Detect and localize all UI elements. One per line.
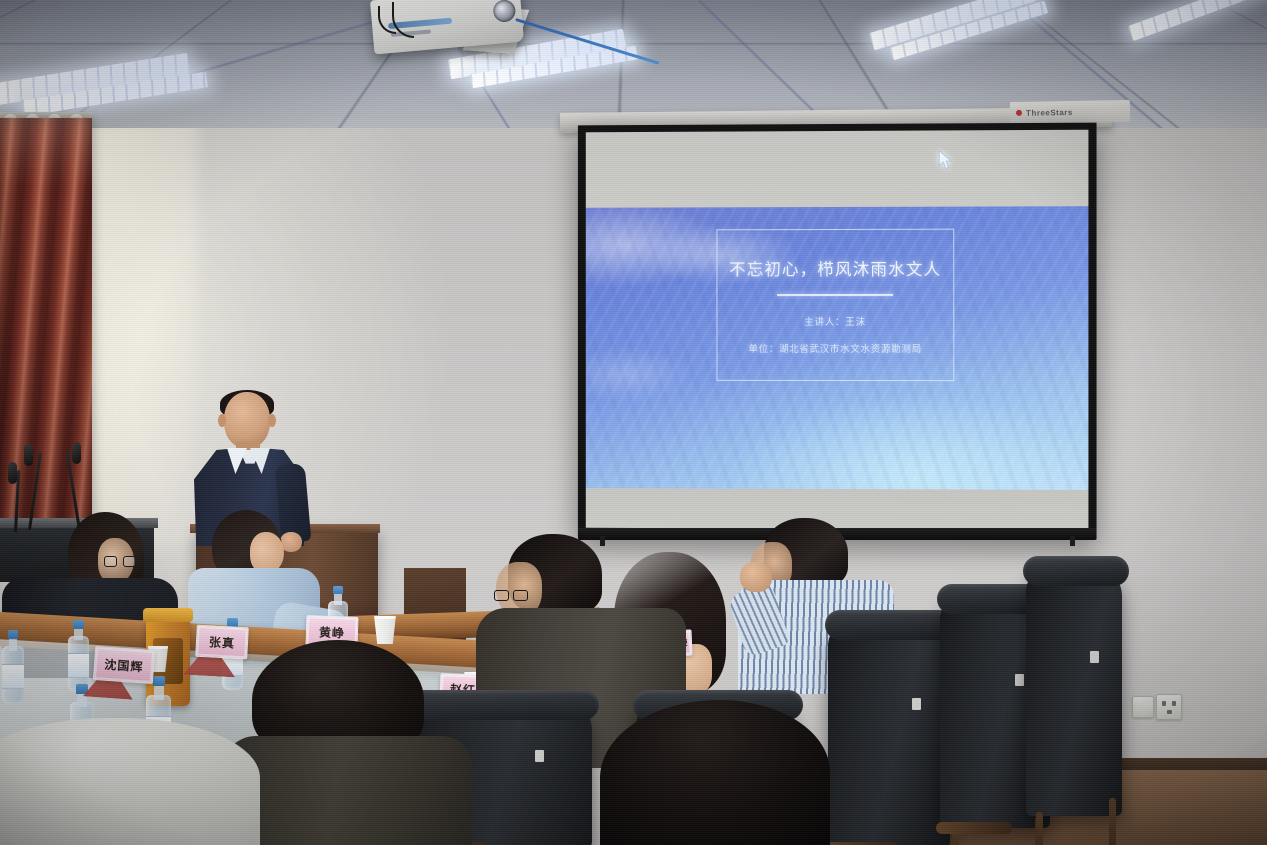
chair-leg [1036, 812, 1043, 845]
bottle-cap [227, 618, 237, 627]
screen-blank-area-top [586, 130, 1089, 208]
presenter-head [224, 392, 270, 448]
bottle-cap [153, 676, 165, 686]
eyeglasses-icon [494, 590, 528, 602]
chair-leg [1109, 798, 1116, 845]
nameplate: 张真 [195, 625, 249, 660]
window-curtain[interactable] [0, 118, 92, 550]
microphone-capsule[interactable] [8, 462, 17, 484]
screen-surface: 不忘初心，栉风沐雨水文人 主讲人：王沫 单位：湖北省武汉市水文水资源勘测局 [586, 130, 1089, 531]
microphone-capsule[interactable] [72, 442, 81, 464]
leather-chair[interactable] [1026, 566, 1122, 816]
bottle-label [68, 653, 89, 677]
outlet-slot [1172, 701, 1176, 706]
water-bottle[interactable] [68, 620, 89, 692]
power-outlet-plate[interactable] [1156, 694, 1182, 720]
attendee-foreground-right-head [600, 700, 830, 845]
lens [494, 590, 509, 601]
slide-organization-line: 单位：湖北省武汉市水文水资源勘测局 [749, 341, 922, 355]
bottle-label [2, 664, 24, 689]
chair-tag [912, 698, 921, 710]
presenter-ear [268, 414, 276, 427]
nameplate: 沈国辉 [93, 646, 155, 684]
microphone-capsule[interactable] [24, 444, 33, 466]
chair-headrest [825, 610, 957, 640]
bottle-cap [8, 630, 19, 639]
outlet-slot [1167, 710, 1172, 714]
lens [123, 556, 136, 567]
lens [513, 590, 528, 601]
screen-bracket [1070, 536, 1075, 546]
photo-scene: ThreeStars 不忘初心，栉风沐雨水文人 主讲人：王沫 单位：湖北省武汉市… [0, 0, 1267, 845]
screen-brand-badge: ThreeStars [1010, 100, 1130, 124]
bottle-cap [333, 586, 343, 594]
bottle-cap [76, 684, 88, 694]
chair-tag [1015, 674, 1024, 686]
light-switch-plate[interactable] [1132, 696, 1154, 718]
presenter-ear [218, 414, 226, 427]
leather-chair[interactable] [828, 620, 950, 845]
water-bottle[interactable] [2, 630, 24, 704]
bottle-cap [73, 620, 83, 629]
attendee-foreground-left-shoulder [0, 718, 260, 845]
attendee-foreground-center [252, 640, 442, 845]
chair-tag [1090, 651, 1099, 663]
outlet-slot [1162, 701, 1166, 706]
slide-speaker-line: 主讲人：王沫 [804, 314, 866, 328]
eyeglasses-icon [104, 556, 138, 568]
projected-slide: 不忘初心，栉风沐雨水文人 主讲人：王沫 单位：湖北省武汉市水文水资源勘测局 [586, 206, 1089, 490]
slide-text-box: 不忘初心，栉风沐雨水文人 主讲人：王沫 单位：湖北省武汉市水文水资源勘测局 [716, 229, 954, 381]
lens [104, 556, 117, 567]
flask-lid [143, 608, 193, 622]
screen-brand-label: ThreeStars [1026, 107, 1073, 117]
projector-lens-icon [492, 0, 516, 23]
slide-divider [777, 294, 893, 296]
projection-screen[interactable]: 不忘初心，栉风沐雨水文人 主讲人：王沫 单位：湖北省武汉市水文水资源勘测局 [578, 123, 1097, 540]
slide-title: 不忘初心，栉风沐雨水文人 [729, 256, 941, 280]
chair-armrest [936, 822, 1012, 834]
chair-tag [535, 750, 544, 762]
brand-logo-dot-icon [1016, 110, 1022, 116]
attendee-hand [740, 562, 772, 592]
chair-headrest [1023, 556, 1129, 586]
